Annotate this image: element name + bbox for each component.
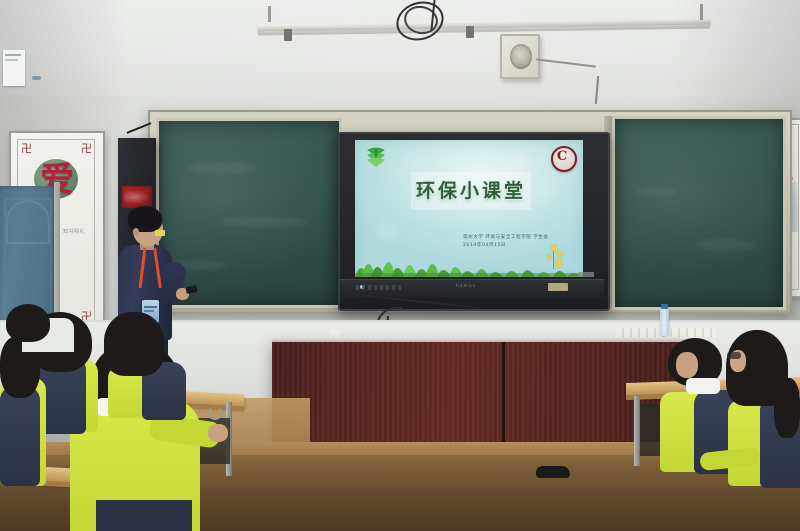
water-bottle-cap [661, 304, 668, 309]
badge-text-line-1 [144, 306, 157, 308]
chalk-smudge [219, 217, 309, 227]
presenter-ear [133, 228, 139, 236]
chalk-smudge [695, 239, 757, 251]
student-collar [686, 378, 720, 394]
slide-flower-petal [551, 245, 557, 251]
student-lower-body [96, 500, 192, 531]
whiteboard-brand-label: hamas [436, 284, 496, 289]
slide-flower-petal [555, 260, 562, 267]
chalk-smudge [187, 161, 257, 175]
whiteboard-ir-panel [548, 283, 568, 291]
blackboard-panel-right [612, 116, 786, 310]
student-vest [0, 386, 40, 486]
slide-flower-petal [557, 252, 562, 257]
cabinet-red-poster-graphic [124, 190, 150, 204]
student-face [676, 352, 698, 378]
poster-corner-motif-tr: 卍 [81, 143, 92, 154]
student-hand [208, 424, 228, 442]
slide-bokeh [537, 184, 553, 200]
presentation-screen[interactable]: C 环保小课堂 常州大学 环境与安全工程学院 学生会 2019年04月15日 [355, 140, 583, 277]
chalk-smudge [637, 187, 677, 196]
podium-top-edge [272, 337, 684, 342]
door-arch-moulding [6, 200, 50, 244]
student-glasses-icon [727, 352, 741, 359]
whiteboard-logo-plate [578, 272, 594, 277]
student-hair [104, 312, 164, 376]
poster-caption: 知书明礼 [57, 229, 91, 236]
slide-title: 环保小课堂 [403, 174, 539, 208]
notice-text-line-2 [5, 59, 18, 61]
slide-flower-petal [547, 255, 551, 259]
university-emblem-glyph: C [551, 146, 573, 168]
whiteboard-button-row[interactable] [356, 285, 402, 290]
notice-text-line-1 [5, 54, 21, 56]
slide-grass-graphic [355, 243, 583, 277]
poster-corner-motif-tl: 卍 [21, 143, 32, 154]
presenter-shoe [536, 466, 570, 478]
green-leaf-eco-logo [363, 145, 389, 169]
classroom-photo: 卍 卍 卍 卍 爱 知书明礼 卍 卍 [0, 0, 800, 531]
desk-hook [208, 406, 222, 420]
badge-text-line-2 [144, 310, 154, 312]
slide-bokeh [377, 222, 397, 242]
water-bottle [660, 308, 669, 336]
slide-subtitle-line-1: 常州大学 环境与安全工程学院 学生会 [463, 234, 583, 241]
door-handle[interactable] [32, 76, 41, 80]
student-ponytail [774, 378, 800, 438]
student-hair [6, 304, 50, 342]
presenter-collar-tag [155, 230, 165, 236]
